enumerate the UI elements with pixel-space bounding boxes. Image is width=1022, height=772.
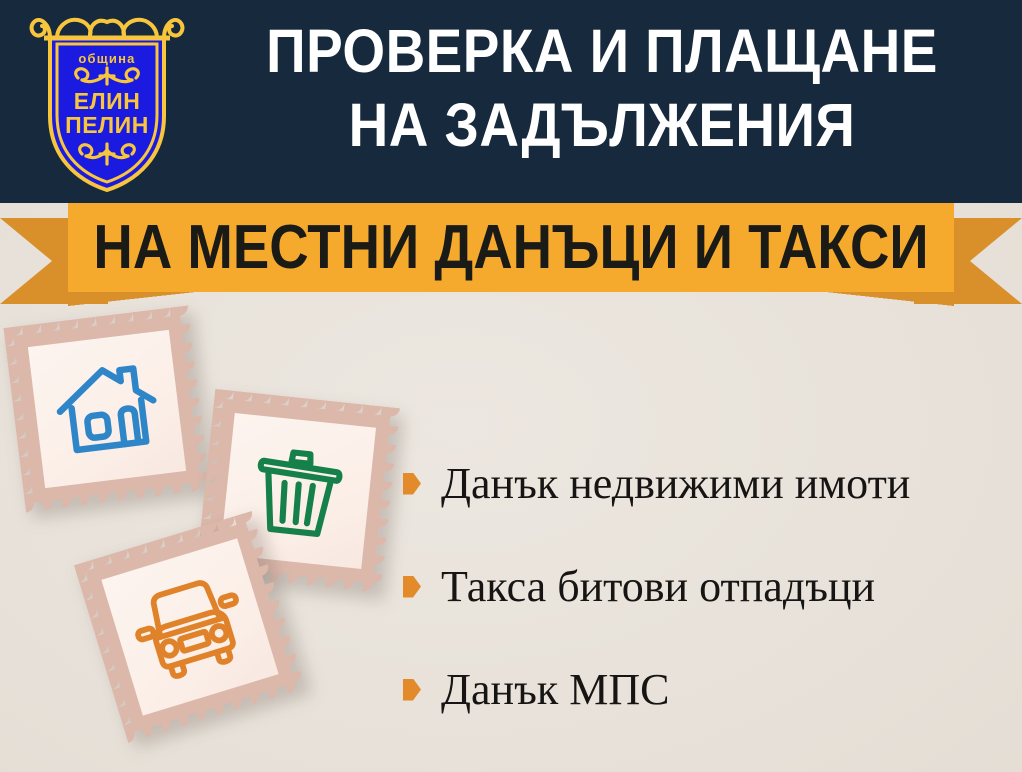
svg-text:ЕЛИН: ЕЛИН	[74, 88, 141, 114]
municipality-crest-icon: община ЕЛИН ПЕЛИН	[24, 8, 190, 196]
stamp-card-house	[3, 305, 210, 512]
ribbon-banner: НА МЕСТНИ ДАНЪЦИ И ТАКСИ	[0, 196, 1022, 311]
svg-text:ПЕЛИН: ПЕЛИН	[65, 112, 149, 138]
poster-root: ПРОВЕРКА И ПЛАЩАНЕ НА ЗАДЪЛЖЕНИЯ община	[0, 0, 1022, 772]
list-item-label: Такса битови отпадъци	[441, 564, 875, 610]
list-item[interactable]: Такса битови отпадъци	[403, 535, 1013, 638]
svg-text:община: община	[78, 51, 135, 66]
ribbon-fold-right	[826, 292, 954, 306]
page-title-line-2: НА ЗАДЪЛЖЕНИЯ	[237, 88, 968, 162]
list-item[interactable]: Данък недвижими имоти	[403, 432, 1013, 535]
list-item-label: Данък недвижими имоти	[441, 461, 910, 507]
page-title: ПРОВЕРКА И ПЛАЩАНЕ НА ЗАДЪЛЖЕНИЯ	[237, 14, 968, 162]
arrow-bullet-icon	[403, 679, 421, 701]
list-item-label: Данък МПС	[441, 667, 669, 713]
house-icon	[36, 338, 179, 481]
ribbon-label: НА МЕСТНИ ДАНЪЦИ И ТАКСИ	[121, 202, 901, 292]
tax-type-list: Данък недвижими имоти Такса битови отпад…	[403, 432, 1013, 741]
arrow-bullet-icon	[403, 576, 421, 598]
page-title-line-1: ПРОВЕРКА И ПЛАЩАНЕ	[266, 17, 938, 85]
ribbon-fold-left	[68, 292, 196, 306]
list-item[interactable]: Данък МПС	[403, 638, 1013, 741]
arrow-bullet-icon	[403, 473, 421, 495]
